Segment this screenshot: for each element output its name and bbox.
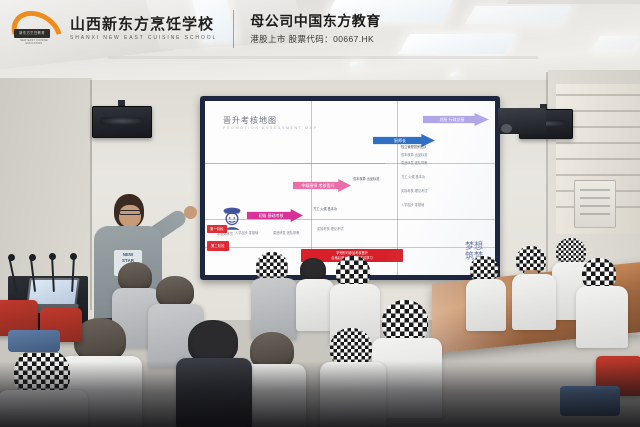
- school-name-en: SHANXI NEW EAST CUISINE SCHOOL: [70, 35, 217, 41]
- logo-plate-subtext: NEW EAST CUISINE EDUCATION: [12, 39, 56, 45]
- slide-note: 成本核算 出品标准: [401, 153, 427, 158]
- projector: [498, 108, 546, 134]
- display-screen[interactable]: 晋升考核地图 PROMOTION ASSESSMENT MAP 总厨 行政总厨 …: [200, 96, 500, 280]
- slide-note: 实操考核 理论考试: [401, 189, 427, 194]
- slide-gridline: [205, 219, 495, 220]
- presenter-hand: [184, 206, 197, 219]
- slide-red-tag-1: 第一阶段: [207, 225, 227, 233]
- slide-note: 独立管理厨房团队: [401, 145, 427, 150]
- slide-surface: 晋升考核地图 PROMOTION ASSESSMENT MAP 总厨 行政总厨 …: [205, 101, 495, 275]
- slide-title: 晋升考核地图: [223, 115, 277, 126]
- glasses-icon: [119, 210, 141, 215]
- slide-note: 实操考核 理论考试: [317, 227, 343, 232]
- slide-subtitle: PROMOTION ASSESSMENT MAP: [223, 126, 318, 130]
- logo-plate: 新东方烹饪教育: [14, 29, 50, 38]
- slide-arrow-2: 中级厨师 考核晋升: [293, 179, 351, 192]
- speaker-left: [92, 106, 152, 138]
- slide-gridline: [205, 247, 495, 248]
- slide-red-tag-2: 第二阶段: [207, 241, 229, 251]
- slide-note: 刀工 火候 基本功: [313, 207, 337, 212]
- school-name-block: 山西新东方烹饪学校 SHANXI NEW EAST CUISINE SCHOOL: [70, 17, 217, 42]
- classroom-scene: 晋升考核地图 PROMOTION ASSESSMENT MAP 总厨 行政总厨 …: [0, 0, 640, 427]
- microphone-head: [8, 254, 15, 261]
- logo-plate-text: 新东方烹饪教育: [14, 29, 50, 38]
- air-vent: [574, 180, 616, 228]
- slide-note: 菜品研发 团队带教: [401, 161, 427, 166]
- header-overlay: 新东方烹饪教育 NEW EAST CUISINE EDUCATION 山西新东方…: [0, 0, 640, 58]
- school-logo: 新东方烹饪教育 NEW EAST CUISINE EDUCATION: [8, 9, 60, 49]
- slide-note: 入学起步 零基础: [235, 231, 258, 236]
- slide-arrow-4: 总厨 行政总厨: [423, 113, 489, 126]
- ceiling-downlight: [450, 72, 461, 78]
- slide-note: 入学起步 零基础: [401, 203, 424, 208]
- slide-arrow-1: 初级 基础考核: [247, 209, 303, 222]
- stock-listing-info: 港股上市 股票代码：00667.HK: [250, 33, 381, 45]
- header-divider: [233, 10, 234, 48]
- chair-seat: [8, 330, 60, 352]
- presenter-face: [119, 205, 141, 227]
- screenshot-root: 晋升考核地图 PROMOTION ASSESSMENT MAP 总厨 行政总厨 …: [0, 0, 640, 427]
- slide-note: 成本核算 出品标准: [353, 177, 379, 182]
- slide-note: 刀工 火候 基本功: [401, 175, 425, 180]
- parent-company-name: 母公司中国东方教育: [250, 13, 381, 29]
- ceiling-downlight: [350, 62, 362, 68]
- microphone-head: [29, 254, 36, 261]
- school-name-cn: 山西新东方烹饪学校: [70, 17, 217, 34]
- microphone-head: [49, 253, 56, 260]
- slide-note: 菜品研发 团队带教: [273, 231, 299, 236]
- microphone-head: [70, 253, 77, 260]
- parent-company-block: 母公司中国东方教育 港股上市 股票代码：00667.HK: [250, 13, 381, 44]
- slide-gridline-accent: [205, 163, 385, 164]
- foreground-shadow: [0, 361, 640, 427]
